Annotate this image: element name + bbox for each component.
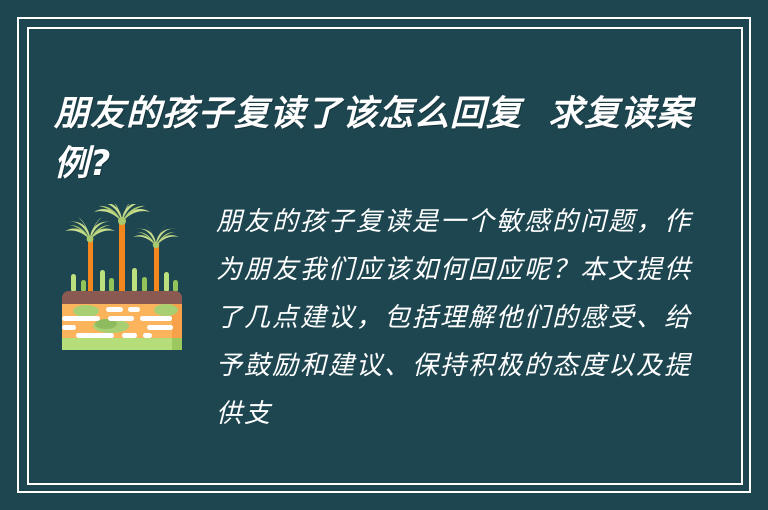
article-thumbnail [54, 198, 190, 352]
bush-left [73, 305, 99, 317]
article-content-row: 朋友的孩子复读是一个敏感的问题，作为朋友我们应该如何回应呢？本文提供了几点建议，… [54, 198, 694, 438]
article-title: 朋友的孩子复读了该怎么回复 求复读案例? [54, 89, 694, 189]
article-body: 朋友的孩子复读是一个敏感的问题，作为朋友我们应该如何回应呢？本文提供了几点建议，… [216, 198, 694, 438]
palm-tree-oasis-illustration [54, 204, 190, 352]
oasis-ground [62, 291, 182, 350]
bush-right [154, 304, 178, 316]
poster-canvas: 朋友的孩子复读了该怎么回复 求复读案例? [0, 0, 768, 510]
palm-tree-right [133, 224, 179, 292]
